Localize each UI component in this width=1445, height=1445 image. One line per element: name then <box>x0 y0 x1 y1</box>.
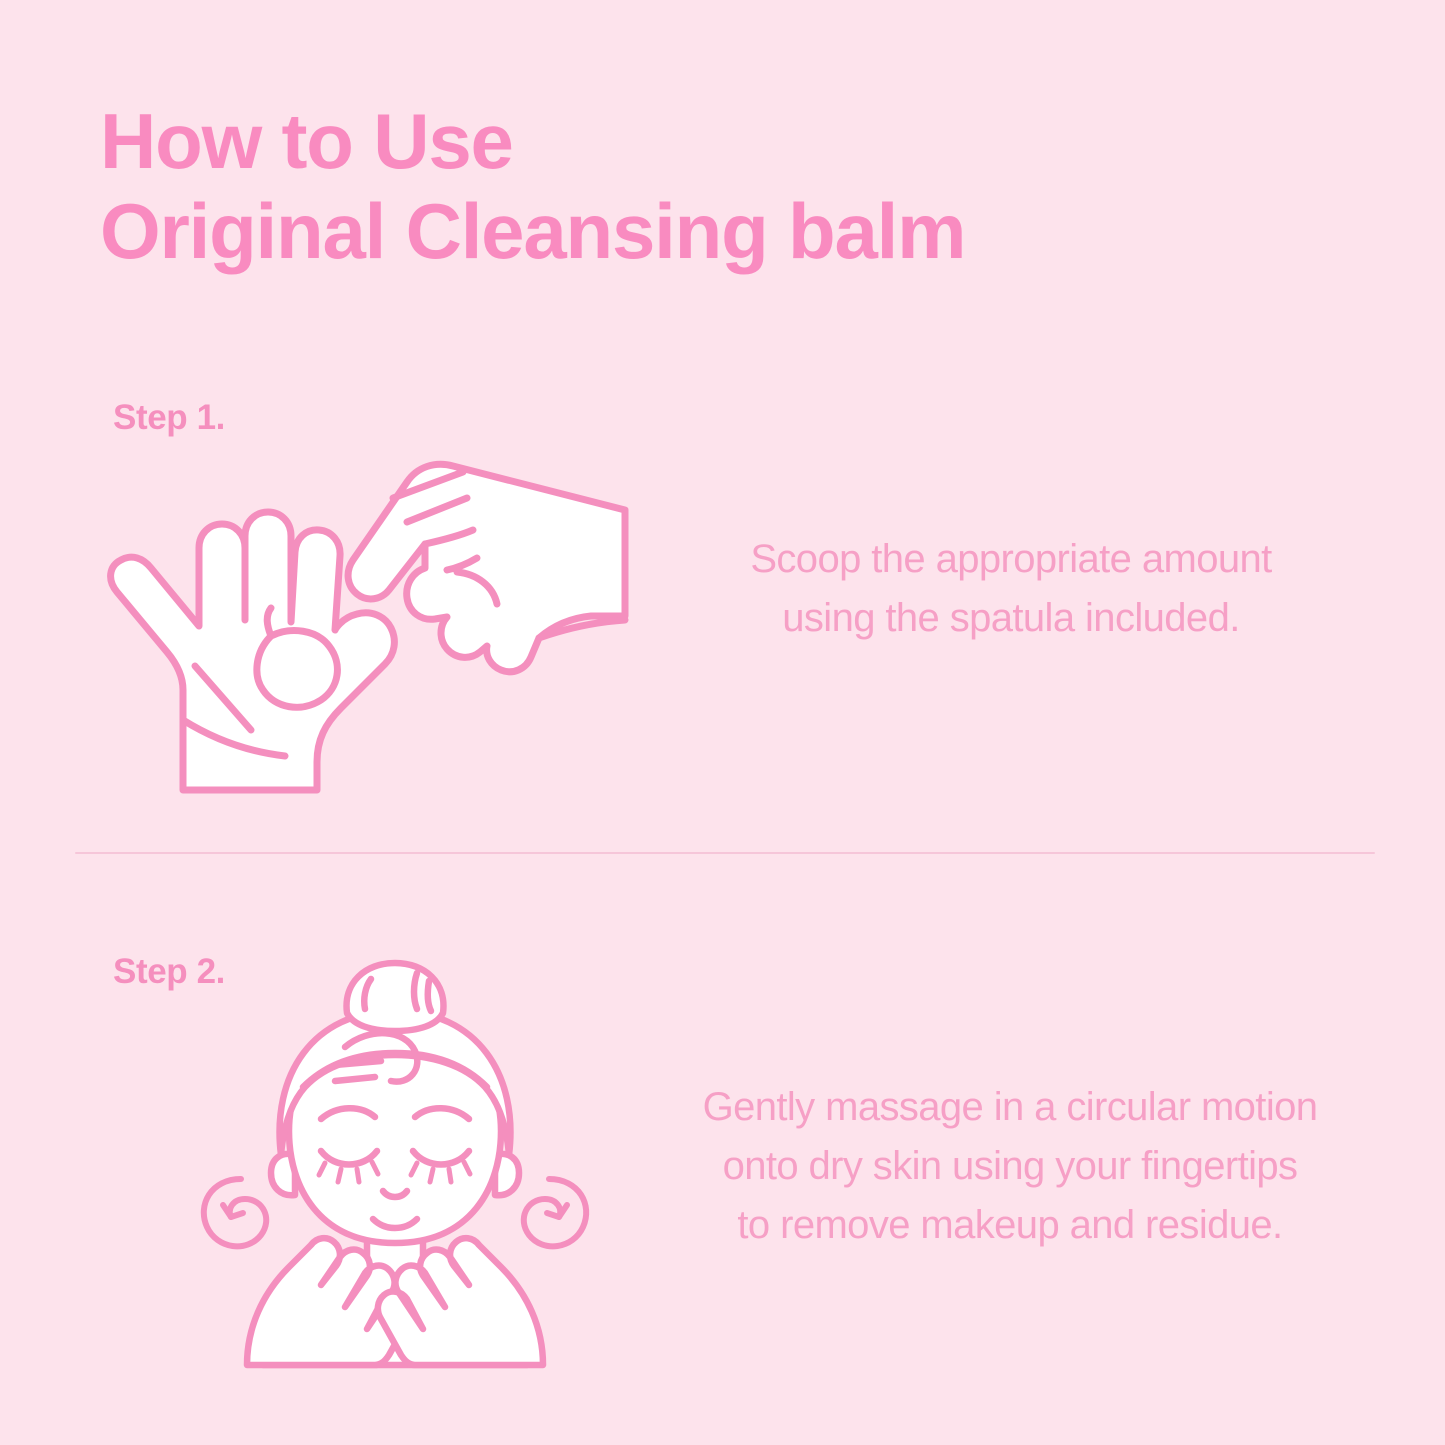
bun-strand-3 <box>428 981 431 1011</box>
right-lash-3 <box>449 1169 451 1182</box>
step-2-description: Gently massage in a circular motion onto… <box>610 1078 1410 1254</box>
bun-strand-2 <box>414 973 417 1009</box>
title-line-2: Original Cleansing balm <box>100 186 1220 276</box>
left-lash-3 <box>357 1169 359 1182</box>
step-2-text-line-2: onto dry skin using your fingertips <box>610 1137 1410 1196</box>
right-lash-2 <box>430 1169 433 1182</box>
hair-strand-2 <box>335 1077 375 1081</box>
step-1-text-line-1: Scoop the appropriate amount <box>640 530 1382 589</box>
left-swirl-arrow <box>204 1179 266 1246</box>
title-line-1: How to Use <box>100 96 1220 186</box>
step-1-illustration <box>95 440 625 790</box>
section-divider <box>75 852 1375 854</box>
right-swirl-arrow <box>524 1179 586 1246</box>
hair-strand-1 <box>335 1061 381 1065</box>
step-1-text-line-2: using the spatula included. <box>640 589 1382 648</box>
how-to-use-infographic: How to Use Original Cleansing balm Step … <box>0 0 1445 1445</box>
step-2-text-line-3: to remove makeup and residue. <box>610 1196 1410 1255</box>
step-2-text-line-1: Gently massage in a circular motion <box>610 1078 1410 1137</box>
step-1-description: Scoop the appropriate amount using the s… <box>640 530 1382 648</box>
step-2-illustration <box>185 955 605 1365</box>
left-lash-2 <box>338 1169 341 1182</box>
step-1-label: Step 1. <box>113 398 225 438</box>
page-title: How to Use Original Cleansing balm <box>100 96 1220 277</box>
